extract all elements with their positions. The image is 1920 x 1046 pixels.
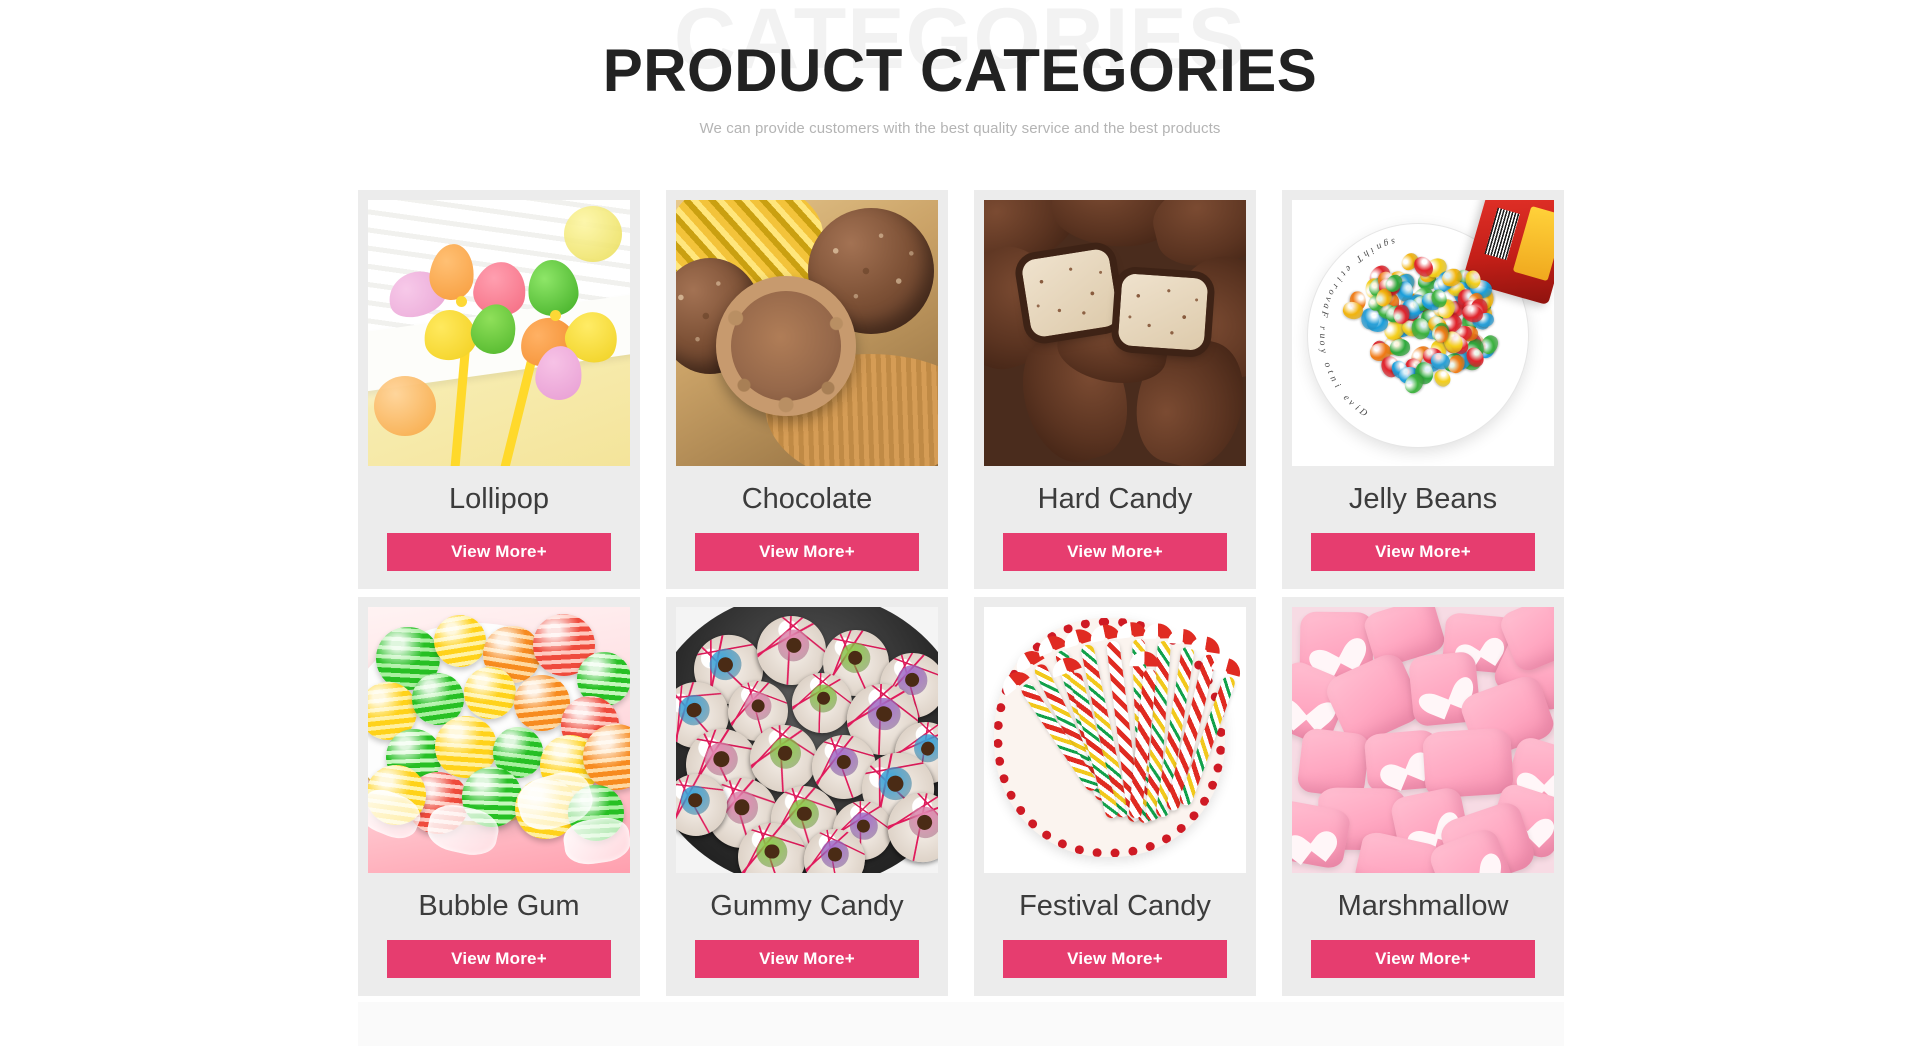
category-label: Hard Candy (1038, 484, 1193, 516)
hard-candy-illustration (984, 200, 1246, 466)
view-more-button-marshmallow[interactable]: View More+ (1311, 940, 1535, 978)
category-thumbnail-festival-candy (984, 607, 1246, 873)
product-categories-page: CATEGORIES PRODUCT CATEGORIES We can pro… (0, 0, 1920, 1046)
category-label: Festival Candy (1019, 891, 1211, 923)
category-card-hard-candy[interactable]: Hard Candy View More+ (974, 190, 1256, 589)
view-more-button-festival-candy[interactable]: View More+ (1003, 940, 1227, 978)
view-more-button-hard-candy[interactable]: View More+ (1003, 533, 1227, 571)
view-more-button-gummy-candy[interactable]: View More+ (695, 940, 919, 978)
category-label: Jelly Beans (1349, 484, 1497, 516)
category-card-jelly-beans[interactable]: Dive into your Favorite Things Jelly Bea… (1282, 190, 1564, 589)
category-label: Lollipop (449, 484, 549, 516)
jelly-beans-illustration: Dive into your Favorite Things (1292, 200, 1554, 466)
view-more-button-jelly-beans[interactable]: View More+ (1311, 533, 1535, 571)
section-header: CATEGORIES PRODUCT CATEGORIES We can pro… (0, 0, 1920, 168)
category-thumbnail-lollipop (368, 200, 630, 466)
category-thumbnail-hard-candy (984, 200, 1246, 466)
marshmallow-illustration (1292, 607, 1554, 873)
view-more-button-chocolate[interactable]: View More+ (695, 533, 919, 571)
category-card-chocolate[interactable]: Chocolate View More+ (666, 190, 948, 589)
category-card-lollipop[interactable]: Lollipop View More+ (358, 190, 640, 589)
gummy-candy-illustration (676, 607, 938, 873)
category-thumbnail-jelly-beans: Dive into your Favorite Things (1292, 200, 1554, 466)
page-title: PRODUCT CATEGORIES (0, 14, 1920, 107)
chocolate-illustration (676, 200, 938, 466)
category-thumbnail-bubble-gum (368, 607, 630, 873)
category-card-gummy-candy[interactable]: Gummy Candy View More+ (666, 597, 948, 996)
category-label: Gummy Candy (710, 891, 903, 923)
category-card-marshmallow[interactable]: Marshmallow View More+ (1282, 597, 1564, 996)
festival-candy-illustration (984, 607, 1246, 873)
bubble-gum-illustration (368, 607, 630, 873)
category-card-bubble-gum[interactable]: Bubble Gum View More+ (358, 597, 640, 996)
category-grid: Lollipop View More+ Chocolate View M (358, 190, 1564, 1004)
category-label: Bubble Gum (418, 891, 579, 923)
category-label: Marshmallow (1338, 891, 1509, 923)
category-row-2: Bubble Gum View More+ Gummy Candy View M… (358, 597, 1564, 996)
view-more-button-lollipop[interactable]: View More+ (387, 533, 611, 571)
category-label: Chocolate (742, 484, 873, 516)
view-more-button-bubble-gum[interactable]: View More+ (387, 940, 611, 978)
lollipop-illustration (368, 200, 630, 466)
bottom-band (358, 1002, 1564, 1046)
category-thumbnail-gummy-candy (676, 607, 938, 873)
page-subtitle: We can provide customers with the best q… (0, 120, 1920, 137)
category-thumbnail-chocolate (676, 200, 938, 466)
category-row-1: Lollipop View More+ Chocolate View M (358, 190, 1564, 589)
category-thumbnail-marshmallow (1292, 607, 1554, 873)
category-card-festival-candy[interactable]: Festival Candy View More+ (974, 597, 1256, 996)
